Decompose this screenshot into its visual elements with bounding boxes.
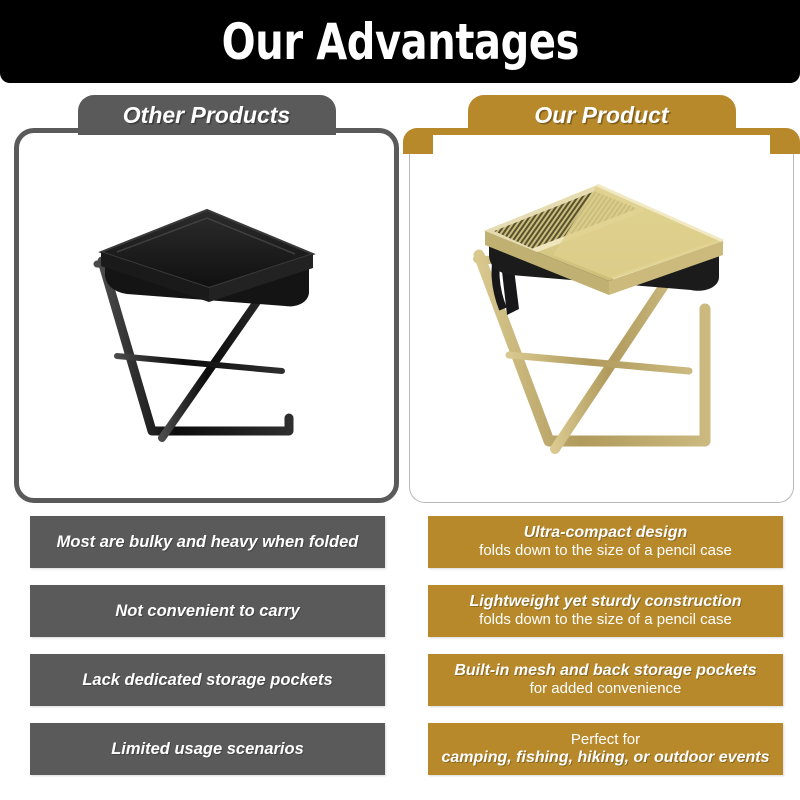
feature-bar-headline: Ultra-compact design — [524, 524, 688, 542]
feature-bar-subtext: folds down to the size of a pencil case — [479, 542, 732, 560]
khaki-folding-stool-illustration — [437, 159, 767, 479]
tab-other-products[interactable]: Other Products — [78, 95, 336, 135]
page-title: Our Advantages — [221, 16, 578, 68]
product-image-other — [19, 133, 394, 498]
tab-other-products-label: Other Products — [123, 103, 290, 127]
column-other-products: Other Products — [14, 95, 399, 510]
comparison-columns: Other Products — [0, 95, 800, 515]
feature-bar-headline: Perfect for — [571, 731, 640, 749]
feature-bar-headline: Lightweight yet sturdy construction — [469, 593, 741, 611]
feature-bar-headline: Most are bulky and heavy when folded — [57, 533, 359, 551]
feature-bar-ours-1: Ultra-compact design folds down to the s… — [428, 516, 783, 568]
feature-bar-headline: Not convenient to carry — [115, 602, 299, 620]
feature-bar-other-1: Most are bulky and heavy when folded — [30, 516, 385, 568]
feature-bar-headline: Limited usage scenarios — [111, 740, 304, 758]
panel-other-products — [14, 128, 399, 503]
feature-bar-other-4: Limited usage scenarios — [30, 723, 385, 775]
header-banner: Our Advantages — [0, 0, 800, 83]
feature-bar-ours-2: Lightweight yet sturdy construction fold… — [428, 585, 783, 637]
feature-bar-subtext: for added convenience — [530, 680, 682, 698]
feature-bar-subtext: camping, fishing, hiking, or outdoor eve… — [441, 749, 769, 767]
advantages-comparison-page: Our Advantages Other Products — [0, 0, 800, 800]
product-image-ours — [410, 135, 793, 502]
feature-bars-ours: Ultra-compact design folds down to the s… — [428, 516, 783, 792]
feature-bar-headline: Built-in mesh and back storage pockets — [454, 662, 756, 680]
feature-bar-other-2: Not convenient to carry — [30, 585, 385, 637]
tab-our-product[interactable]: Our Product — [468, 95, 736, 135]
feature-bar-other-3: Lack dedicated storage pockets — [30, 654, 385, 706]
feature-bar-ours-4: Perfect for camping, fishing, hiking, or… — [428, 723, 783, 775]
black-folding-stool-illustration — [57, 166, 357, 466]
tab-our-product-label: Our Product — [534, 103, 668, 127]
feature-bar-headline: Lack dedicated storage pockets — [82, 671, 332, 689]
feature-bars-other: Most are bulky and heavy when folded Not… — [30, 516, 385, 792]
panel-our-product — [409, 128, 794, 503]
feature-bar-subtext: folds down to the size of a pencil case — [479, 611, 732, 629]
feature-bar-ours-3: Built-in mesh and back storage pockets f… — [428, 654, 783, 706]
feature-bars: Most are bulky and heavy when folded Not… — [0, 516, 800, 800]
column-our-product: Our Product — [409, 95, 794, 510]
